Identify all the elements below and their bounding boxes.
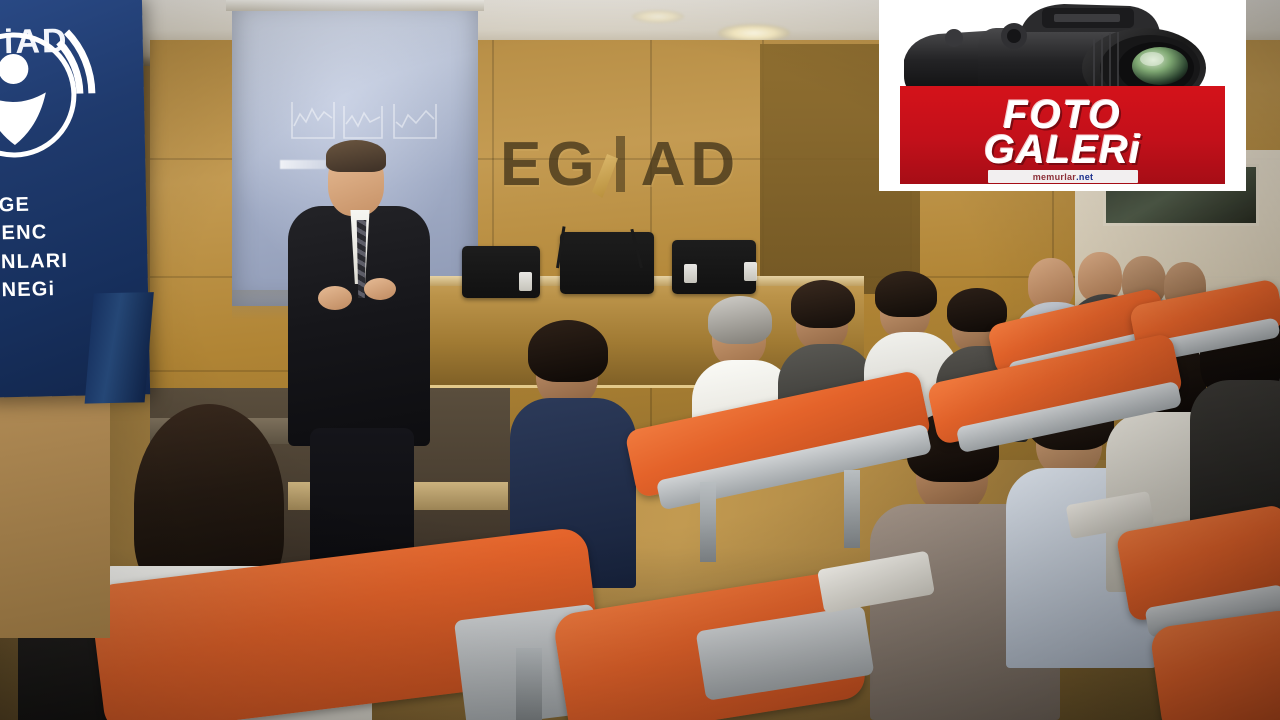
wall-sign: EG AD [500,128,770,200]
wall-sign-segment-1: EG [500,129,600,200]
site-name-suffix: .net [1076,172,1093,182]
banner-line-2: GENC [0,216,155,248]
banner-line-3: ANLARI [0,245,156,277]
water-glass [744,262,757,281]
foto-galeri-badge[interactable]: FOTO GALERi memurlar.net [880,0,1245,190]
egiad-rollup-banner: EGiAD 1990 EGE GENC ANLARI RNEGi [0,0,150,398]
water-glass [519,272,532,291]
water-glass [684,264,697,283]
wall-sign-segment-3: AD [641,129,741,200]
wall-sign-dotless-i [616,136,625,192]
slide-caption [280,160,326,169]
photo-canvas: EG AD [0,0,1280,720]
badge-line-galeri: GALERi [880,131,1245,169]
site-name-prefix: memurlar [1033,172,1076,182]
svg-text:1990: 1990 [5,125,25,135]
ceiling-downlight-icon [632,10,684,23]
banner-text-block: EGE GENC ANLARI RNEGi [0,188,156,305]
egiad-figure-logo-icon: 1990 [0,15,104,178]
slide-chart-graphic [290,96,440,142]
badge-site-watermark: memurlar.net [988,170,1138,183]
banner-line-1: EGE [0,188,154,220]
banner-fold [85,292,154,403]
